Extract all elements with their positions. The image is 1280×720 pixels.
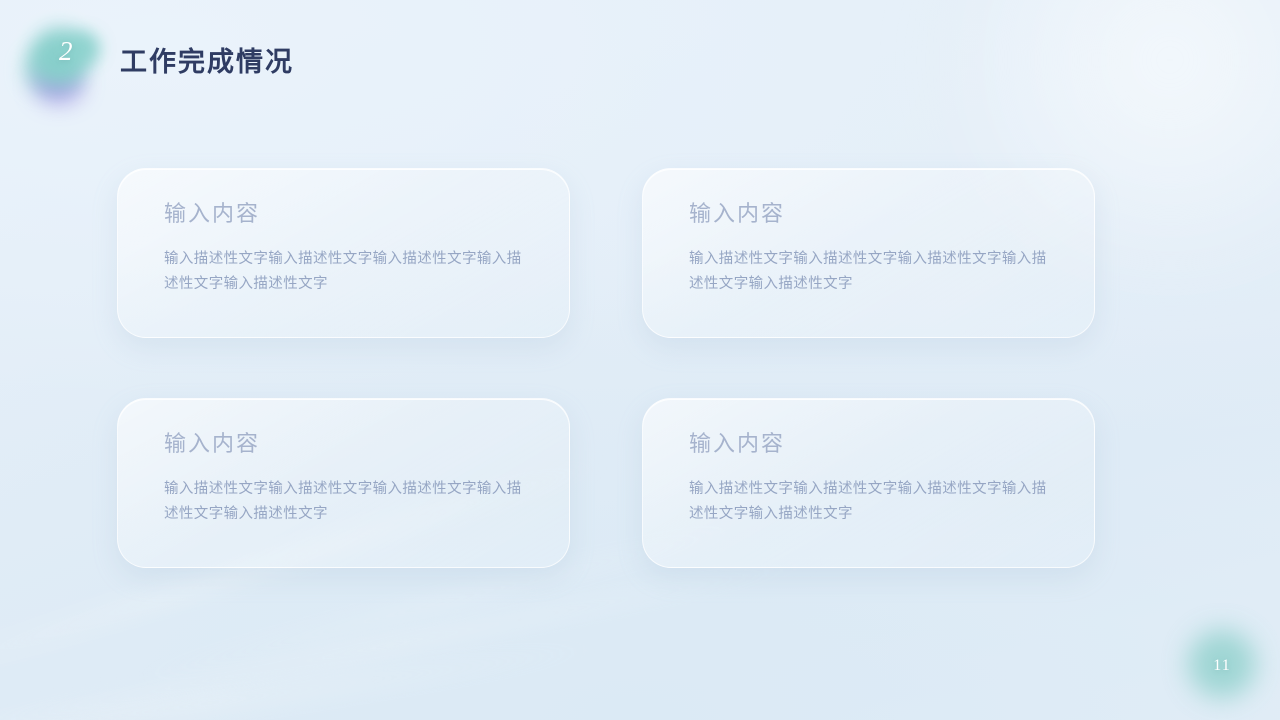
- page-title: 工作完成情况: [120, 40, 294, 79]
- content-card-1[interactable]: 输入内容 输入描述性文字输入描述性文字输入描述性文字输入描述性文字输入描述性文字: [117, 168, 570, 338]
- card-description: 输入描述性文字输入描述性文字输入描述性文字输入描述性文字输入描述性文字: [689, 247, 1049, 298]
- page-number-label: 11: [1178, 622, 1266, 710]
- card-title: 输入内容: [689, 433, 1062, 455]
- section-number-badge: 2: [14, 12, 118, 116]
- page-number-badge: 11: [1178, 622, 1266, 710]
- card-title: 输入内容: [689, 203, 1062, 225]
- card-description: 输入描述性文字输入描述性文字输入描述性文字输入描述性文字输入描述性文字: [164, 477, 524, 528]
- card-description: 输入描述性文字输入描述性文字输入描述性文字输入描述性文字输入描述性文字: [689, 477, 1049, 528]
- content-card-2[interactable]: 输入内容 输入描述性文字输入描述性文字输入描述性文字输入描述性文字输入描述性文字: [642, 168, 1095, 338]
- slide-header: 2 工作完成情况: [0, 0, 1280, 120]
- background-streak: [0, 633, 618, 720]
- content-card-4[interactable]: 输入内容 输入描述性文字输入描述性文字输入描述性文字输入描述性文字输入描述性文字: [642, 398, 1095, 568]
- slide-canvas: 2 工作完成情况 输入内容 输入描述性文字输入描述性文字输入描述性文字输入描述性…: [0, 0, 1280, 720]
- card-description: 输入描述性文字输入描述性文字输入描述性文字输入描述性文字输入描述性文字: [164, 247, 524, 298]
- card-title: 输入内容: [164, 203, 537, 225]
- card-title: 输入内容: [164, 433, 537, 455]
- background-streak: [0, 550, 833, 720]
- content-card-grid: 输入内容 输入描述性文字输入描述性文字输入描述性文字输入描述性文字输入描述性文字…: [117, 168, 1095, 568]
- content-card-3[interactable]: 输入内容 输入描述性文字输入描述性文字输入描述性文字输入描述性文字输入描述性文字: [117, 398, 570, 568]
- section-number-label: 2: [14, 12, 118, 90]
